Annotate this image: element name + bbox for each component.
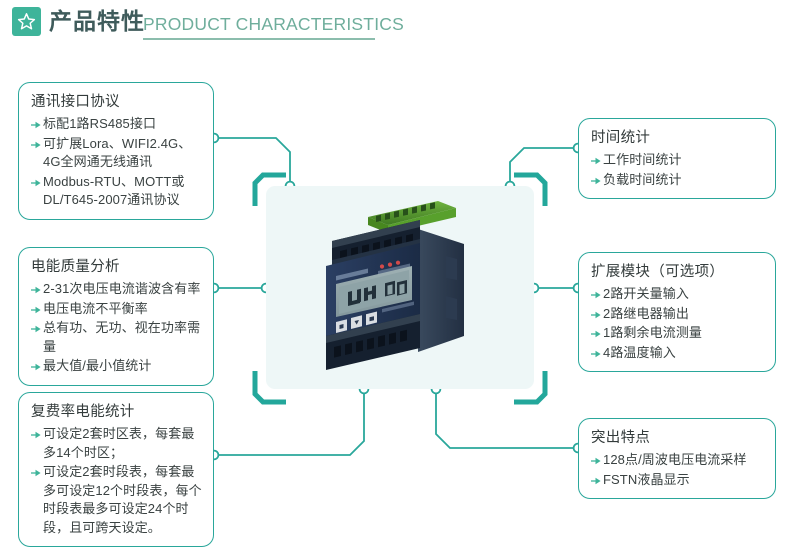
card-title: 突出特点	[591, 428, 765, 449]
list-item-text: 128点/周波电压电流采样	[603, 451, 765, 470]
list-item-text: 2-31次电压电流谐波含有率	[43, 280, 203, 299]
list-item: 电压电流不平衡率	[31, 300, 203, 319]
arrow-bullet-icon	[31, 425, 42, 444]
list-item-text: 2路继电器输出	[603, 305, 765, 324]
feature-card-power-quality-analysis: 电能质量分析 2-31次电压电流谐波含有率 电压电流不平衡率 总有功、无功、视在…	[18, 247, 214, 386]
feature-card-communication-interface-protocol: 通讯接口协议 标配1路RS485接口 可扩展Lora、WIFI2.4G、4G全网…	[18, 82, 214, 220]
arrow-bullet-icon	[31, 135, 42, 154]
arrow-bullet-icon	[591, 305, 602, 324]
list-item-text: 可扩展Lora、WIFI2.4G、4G全网通无线通讯	[43, 135, 203, 172]
feature-card-expansion-module-optional: 扩展模块（可选项） 2路开关量输入 2路继电器输出 1路剩余电流测量 4路温度输…	[578, 252, 776, 372]
list-item: 4路温度输入	[591, 344, 765, 363]
card-title: 时间统计	[591, 128, 765, 149]
feature-card-multi-tariff-energy-statistics: 复费率电能统计 可设定2套时区表，每套最多14个时区； 可设定2套时段表，每套最…	[18, 392, 214, 547]
list-item: FSTN液晶显示	[591, 471, 765, 490]
list-item: 负载时间统计	[591, 171, 765, 190]
list-item: 128点/周波电压电流采样	[591, 451, 765, 470]
card-title: 通讯接口协议	[31, 92, 203, 113]
list-item: 标配1路RS485接口	[31, 115, 203, 134]
list-item: 1路剩余电流测量	[591, 324, 765, 343]
card-title: 扩展模块（可选项）	[591, 262, 765, 283]
card-title: 电能质量分析	[31, 257, 203, 278]
product-image-energy-meter	[296, 196, 506, 381]
list-item-text: 工作时间统计	[603, 151, 765, 170]
list-item-text: 负载时间统计	[603, 171, 765, 190]
arrow-bullet-icon	[31, 280, 42, 299]
list-item-text: 1路剩余电流测量	[603, 324, 765, 343]
list-item: 可设定2套时区表，每套最多14个时区；	[31, 425, 203, 462]
arrow-bullet-icon	[31, 173, 42, 192]
list-item: 总有功、无功、视在功率需量	[31, 319, 203, 356]
list-item-text: 可设定2套时段表，每套最多可设定12个时段表，每个时段表最多可设定24个时段，且…	[43, 463, 203, 537]
arrow-bullet-icon	[31, 319, 42, 338]
arrow-bullet-icon	[591, 471, 602, 490]
list-item-text: 可设定2套时区表，每套最多14个时区；	[43, 425, 203, 462]
list-item: 工作时间统计	[591, 151, 765, 170]
feature-card-key-features: 突出特点 128点/周波电压电流采样 FSTN液晶显示	[578, 418, 776, 499]
list-item-text: 标配1路RS485接口	[43, 115, 203, 134]
feature-card-time-statistics: 时间统计 工作时间统计 负载时间统计	[578, 118, 776, 199]
arrow-bullet-icon	[31, 300, 42, 319]
corner-bracket-top-left	[252, 172, 286, 206]
list-item-text: Modbus-RTU、MOTT或DL/T645-2007通讯协议	[43, 173, 203, 210]
list-item: 2-31次电压电流谐波含有率	[31, 280, 203, 299]
arrow-bullet-icon	[591, 285, 602, 304]
arrow-bullet-icon	[31, 357, 42, 376]
arrow-bullet-icon	[591, 324, 602, 343]
arrow-bullet-icon	[591, 171, 602, 190]
list-item: 2路开关量输入	[591, 285, 765, 304]
arrow-bullet-icon	[591, 451, 602, 470]
list-item: 最大值/最小值统计	[31, 357, 203, 376]
arrow-bullet-icon	[31, 115, 42, 134]
card-title: 复费率电能统计	[31, 402, 203, 423]
list-item-text: FSTN液晶显示	[603, 471, 765, 490]
arrow-bullet-icon	[591, 151, 602, 170]
corner-bracket-bottom-right	[514, 371, 548, 405]
list-item-text: 电压电流不平衡率	[43, 300, 203, 319]
list-item-text: 4路温度输入	[603, 344, 765, 363]
arrow-bullet-icon	[31, 463, 42, 482]
corner-bracket-top-right	[514, 172, 548, 206]
list-item: 可设定2套时段表，每套最多可设定12个时段表，每个时段表最多可设定24个时段，且…	[31, 463, 203, 537]
list-item: 可扩展Lora、WIFI2.4G、4G全网通无线通讯	[31, 135, 203, 172]
list-item: 2路继电器输出	[591, 305, 765, 324]
corner-bracket-bottom-left	[252, 371, 286, 405]
list-item-text: 2路开关量输入	[603, 285, 765, 304]
list-item-text: 总有功、无功、视在功率需量	[43, 319, 203, 356]
list-item-text: 最大值/最小值统计	[43, 357, 203, 376]
arrow-bullet-icon	[591, 344, 602, 363]
list-item: Modbus-RTU、MOTT或DL/T645-2007通讯协议	[31, 173, 203, 210]
